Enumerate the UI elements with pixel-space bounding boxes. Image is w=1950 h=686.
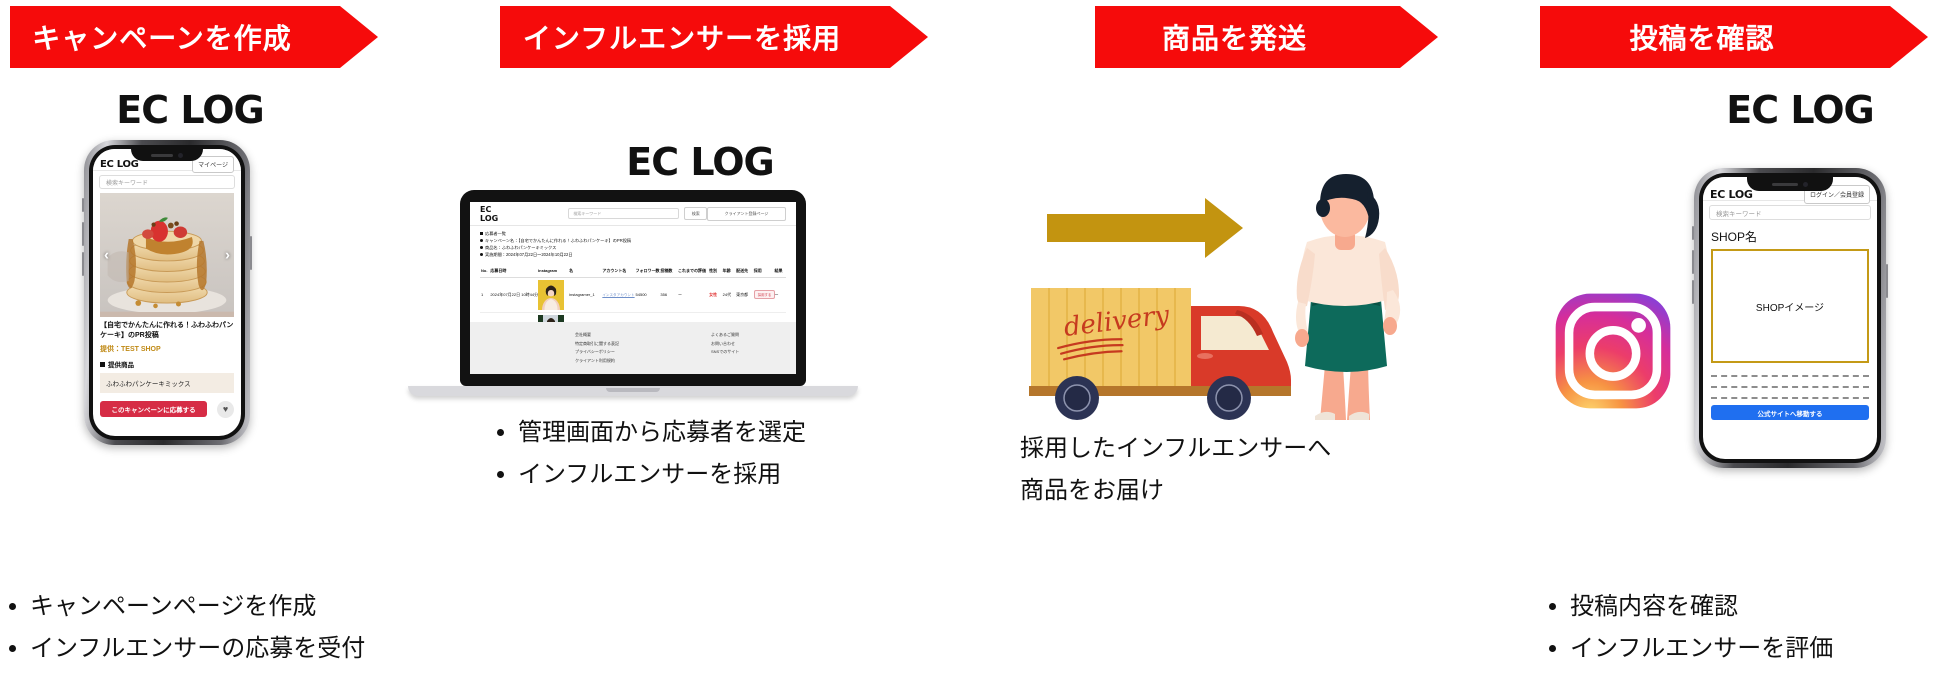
meta-line: 実施期間：2024年07月22日～2024年10月22日 xyxy=(480,252,786,259)
step-3-caption: 採用したインフルエンサーへ 商品をお届け xyxy=(1020,428,1520,512)
step-banner-3: 商品を発送 xyxy=(1095,6,1400,68)
cell-applied: 2024年07月22日 10時44分 xyxy=(489,277,537,312)
divider-line xyxy=(1711,386,1869,388)
phone-screen-shop: EC LOG ログイン／会員登録 検索キーワード SHOP名 SHOPイメージ … xyxy=(1703,177,1877,459)
phone-mockup-shop: EC LOG ログイン／会員登録 検索キーワード SHOP名 SHOPイメージ … xyxy=(1694,168,1886,468)
cell-thumb xyxy=(537,277,568,312)
footer-link[interactable]: 特定商取引に関する表記 xyxy=(575,340,619,348)
search-input[interactable]: 検索キーワード xyxy=(1709,205,1871,220)
carousel-prev-icon[interactable]: ‹ xyxy=(104,247,109,264)
instagram-account-link[interactable]: インスタアカウント xyxy=(602,293,634,297)
arrow-tip-icon xyxy=(340,6,378,68)
step-column-3: 商品を発送 xyxy=(1020,0,1530,686)
laptop-base xyxy=(408,386,858,396)
col-followers: フォロワー数 xyxy=(635,265,660,278)
hire-button[interactable]: 採用する xyxy=(754,290,776,299)
apply-row: このキャンペーンに応募する ♥ xyxy=(93,393,241,418)
delivery-illustration: delivery xyxy=(1015,130,1485,430)
table-row[interactable]: 1 2024年07月22日 10時44分 xyxy=(480,277,786,312)
col-account: アカウント名 xyxy=(601,265,634,278)
admin-logo: EC LOG xyxy=(480,205,510,223)
list-item: キャンペーンページを作成 xyxy=(30,586,470,628)
col-hire: 採用 xyxy=(753,265,774,278)
phone-power-button[interactable] xyxy=(1886,264,1888,298)
list-item: インフルエンサーを採用 xyxy=(518,454,1010,496)
app-logo: EC LOG xyxy=(1710,188,1753,201)
list-item: 管理画面から応募者を選定 xyxy=(518,412,1010,454)
cell-followers: 54500 xyxy=(635,277,660,312)
campaign-post-title: 【自宅でかんたんに作れる！ふわふわパンケーキ】のPR投稿 xyxy=(93,317,241,341)
arrow-tip-icon xyxy=(890,6,928,68)
table-header-row: No. 応募日時 Instagram 名 アカウント名 フォロワー数 投稿数 こ… xyxy=(480,265,786,278)
phone-notch xyxy=(1747,177,1833,191)
camera-icon xyxy=(1803,182,1808,187)
step-2-bullets: 管理画面から応募者を選定 インフルエンサーを採用 xyxy=(490,412,1010,496)
meta-line: 商品名：ふわふわパンケーキミックス xyxy=(480,245,786,252)
provided-product-label: 提供商品 xyxy=(108,362,134,369)
campaign-provider: 提供：TEST SHOP xyxy=(93,341,241,354)
provided-product-heading: 提供商品 xyxy=(93,354,241,369)
favorite-heart-icon[interactable]: ♥ xyxy=(217,401,234,418)
influencer-avatar-1 xyxy=(538,280,564,310)
col-gender: 性別 xyxy=(708,265,721,278)
step-banner-1: キャンペーンを作成 xyxy=(10,6,340,68)
admin-search-button[interactable]: 検索 xyxy=(684,207,707,220)
phone-power-button[interactable] xyxy=(250,236,252,270)
list-item: インフルエンサーを評価 xyxy=(1570,628,1950,670)
caption-line: 採用したインフルエンサーへ xyxy=(1020,428,1520,470)
official-site-button[interactable]: 公式サイトへ移動する xyxy=(1711,405,1869,420)
phone-mute-button[interactable] xyxy=(82,198,84,212)
list-item: 投稿内容を確認 xyxy=(1570,586,1950,628)
cell-gender: 女性 xyxy=(708,277,721,312)
speaker-icon xyxy=(151,154,173,157)
footer-link[interactable]: プライバシーポリシー xyxy=(575,348,619,356)
cell-posts: 356 xyxy=(659,277,677,312)
step-1-bullet-list: キャンペーンページを作成 インフルエンサーの応募を受付 xyxy=(0,586,470,670)
admin-header-bar: EC LOG 検索キーワード 検索 クライアント登録ページ xyxy=(470,202,796,226)
eclog-wordmark-2: EC LOG xyxy=(490,140,910,184)
client-register-button[interactable]: クライアント登録ページ xyxy=(707,207,786,221)
shop-name-heading: SHOP名 xyxy=(1703,224,1877,245)
phone-volume-up-button[interactable] xyxy=(1692,250,1694,274)
laptop-mockup-admin: EC LOG 検索キーワード 検索 クライアント登録ページ 応募者一覧 キャンペ… xyxy=(408,190,858,396)
camera-icon xyxy=(178,153,183,158)
gender-badge: 女性 xyxy=(709,292,717,297)
product-name: ふわふわパンケーキミックス xyxy=(100,373,234,393)
step-4-bullets: 投稿内容を確認 インフルエンサーを評価 xyxy=(1540,586,1950,670)
col-result: 結果 xyxy=(773,265,786,278)
cell-result: ー xyxy=(773,277,786,312)
footer-link[interactable]: よくあるご質問 xyxy=(711,331,739,339)
search-row: 検索キーワード xyxy=(93,171,241,193)
campaign-meta-block: 応募者一覧 キャンペーン名：【自宅でかんたんに作れる！ふわふわパンケーキ】のPR… xyxy=(470,226,796,259)
laptop-screen-admin: EC LOG 検索キーワード 検索 クライアント登録ページ 応募者一覧 キャンペ… xyxy=(470,202,796,374)
eclog-wordmark-4: EC LOG xyxy=(1650,88,1950,132)
influencer-person-illustration xyxy=(1295,174,1400,420)
arrow-tip-icon xyxy=(1890,6,1928,68)
meta-text: キャンペーン名：【自宅でかんたんに作れる！ふわふわパンケーキ】のPR投稿 xyxy=(485,238,631,243)
footer-column-left: 会社概要 特定商取引に関する表記 プライバシーポリシー クライアント利用規約 xyxy=(575,331,619,365)
mypage-button[interactable]: マイページ xyxy=(192,156,234,173)
step-banner-4: 投稿を確認 xyxy=(1540,6,1890,68)
list-item: インフルエンサーの応募を受付 xyxy=(30,628,470,670)
phone-volume-up-button[interactable] xyxy=(82,222,84,246)
cell-name: instagramer_1 xyxy=(568,277,601,312)
delivery-truck-icon: delivery xyxy=(1029,288,1291,420)
admin-search-input[interactable]: 検索キーワード xyxy=(568,208,679,219)
phone-mockup-campaign: EC LOG マイページ 検索キーワード xyxy=(84,140,250,445)
gold-arrow-icon xyxy=(1047,198,1243,258)
eclog-wordmark-1: EC LOG xyxy=(0,88,380,132)
pancake-photo xyxy=(100,193,234,312)
cell-age: 24代 xyxy=(722,277,735,312)
cell-rating: ー xyxy=(677,277,708,312)
step-banner-1-label: キャンペーンを作成 xyxy=(32,17,292,57)
cell-no: 1 xyxy=(480,277,489,312)
step-2-bullet-list: 管理画面から応募者を選定 インフルエンサーを採用 xyxy=(490,412,1010,496)
flow-diagram: キャンペーンを作成 EC LOG EC LOG マイページ xyxy=(0,0,1950,686)
phone-screen-campaign: EC LOG マイページ 検索キーワード xyxy=(93,149,241,436)
col-age: 年齢 xyxy=(722,265,735,278)
col-instagram: Instagram xyxy=(537,265,568,278)
cell-ship: 東京都 xyxy=(735,277,753,312)
step-banner-4-label: 投稿を確認 xyxy=(1629,17,1774,57)
divider-line xyxy=(1711,375,1869,377)
phone-notch xyxy=(131,149,203,161)
footer-column-right: よくあるご質問 お問い合わせ SNSでのサイト xyxy=(711,331,739,365)
laptop-lid: EC LOG 検索キーワード 検索 クライアント登録ページ 応募者一覧 キャンペ… xyxy=(460,190,806,386)
meta-text: 応募者一覧 xyxy=(485,231,506,236)
step-column-2: インフルエンサーを採用 EC LOG EC LOG 検索キーワード 検索 クライ… xyxy=(490,0,1020,686)
step-banner-2-label: インフルエンサーを採用 xyxy=(523,17,841,57)
col-name: 名 xyxy=(568,265,601,278)
dot-bullet-icon xyxy=(480,253,483,256)
search-input[interactable]: 検索キーワード xyxy=(99,175,235,189)
meta-text: 実施期間：2024年07月22日～2024年10月22日 xyxy=(485,252,573,257)
instagram-icon[interactable] xyxy=(1552,290,1674,412)
app-logo: EC LOG xyxy=(100,159,139,170)
step-column-4: 投稿を確認 EC LOG xyxy=(1530,0,1950,686)
footer-link[interactable]: お問い合わせ xyxy=(711,340,739,348)
speaker-icon xyxy=(1772,183,1798,186)
admin-footer: 会社概要 特定商取引に関する表記 プライバシーポリシー クライアント利用規約 よ… xyxy=(470,322,796,374)
meta-line: キャンペーン名：【自宅でかんたんに作れる！ふわふわパンケーキ】のPR投稿 xyxy=(480,238,786,245)
phone-bezel: EC LOG マイページ 検索キーワード xyxy=(89,145,245,440)
phone-volume-down-button[interactable] xyxy=(82,252,84,276)
step-1-bullets: キャンペーンページを作成 インフルエンサーの応募を受付 xyxy=(0,586,470,670)
carousel-next-icon[interactable]: › xyxy=(225,247,230,264)
shop-image-placeholder: SHOPイメージ xyxy=(1711,249,1869,363)
apply-campaign-button[interactable]: このキャンペーンに応募する xyxy=(100,401,207,417)
campaign-hero-carousel[interactable]: ‹ › xyxy=(100,193,234,317)
meta-text: 商品名：ふわふわパンケーキミックス xyxy=(485,245,556,250)
dot-bullet-icon xyxy=(480,246,483,249)
phone-volume-down-button[interactable] xyxy=(1692,280,1694,304)
footer-link[interactable]: クライアント利用規約 xyxy=(575,357,619,365)
step-4-bullet-list: 投稿内容を確認 インフルエンサーを評価 xyxy=(1540,586,1950,670)
meta-line: 応募者一覧 xyxy=(480,231,786,238)
divider-line xyxy=(1711,397,1869,399)
caption-line: 商品をお届け xyxy=(1020,470,1520,512)
cell-hire: 採用する xyxy=(753,277,774,312)
step-banner-3-label: 商品を発送 xyxy=(1162,17,1307,57)
cell-account: インスタアカウント xyxy=(601,277,634,312)
arrow-tip-icon xyxy=(1400,6,1438,68)
footer-link[interactable]: 会社概要 xyxy=(575,331,619,339)
square-bullet-icon xyxy=(480,232,483,235)
dot-bullet-icon xyxy=(480,239,483,242)
phone-mute-button[interactable] xyxy=(1692,226,1694,240)
square-bullet-icon xyxy=(100,362,105,367)
col-no: No. xyxy=(480,265,489,278)
col-applied: 応募日時 xyxy=(489,265,537,278)
footer-link[interactable]: SNSでのサイト xyxy=(711,348,739,356)
col-ship: 配送先 xyxy=(735,265,753,278)
col-rating: これまでの評価 xyxy=(677,265,708,278)
col-posts: 投稿数 xyxy=(659,265,677,278)
phone-bezel: EC LOG ログイン／会員登録 検索キーワード SHOP名 SHOPイメージ … xyxy=(1699,173,1881,463)
search-row: 検索キーワード xyxy=(1703,201,1877,224)
step-banner-2: インフルエンサーを採用 xyxy=(500,6,890,68)
